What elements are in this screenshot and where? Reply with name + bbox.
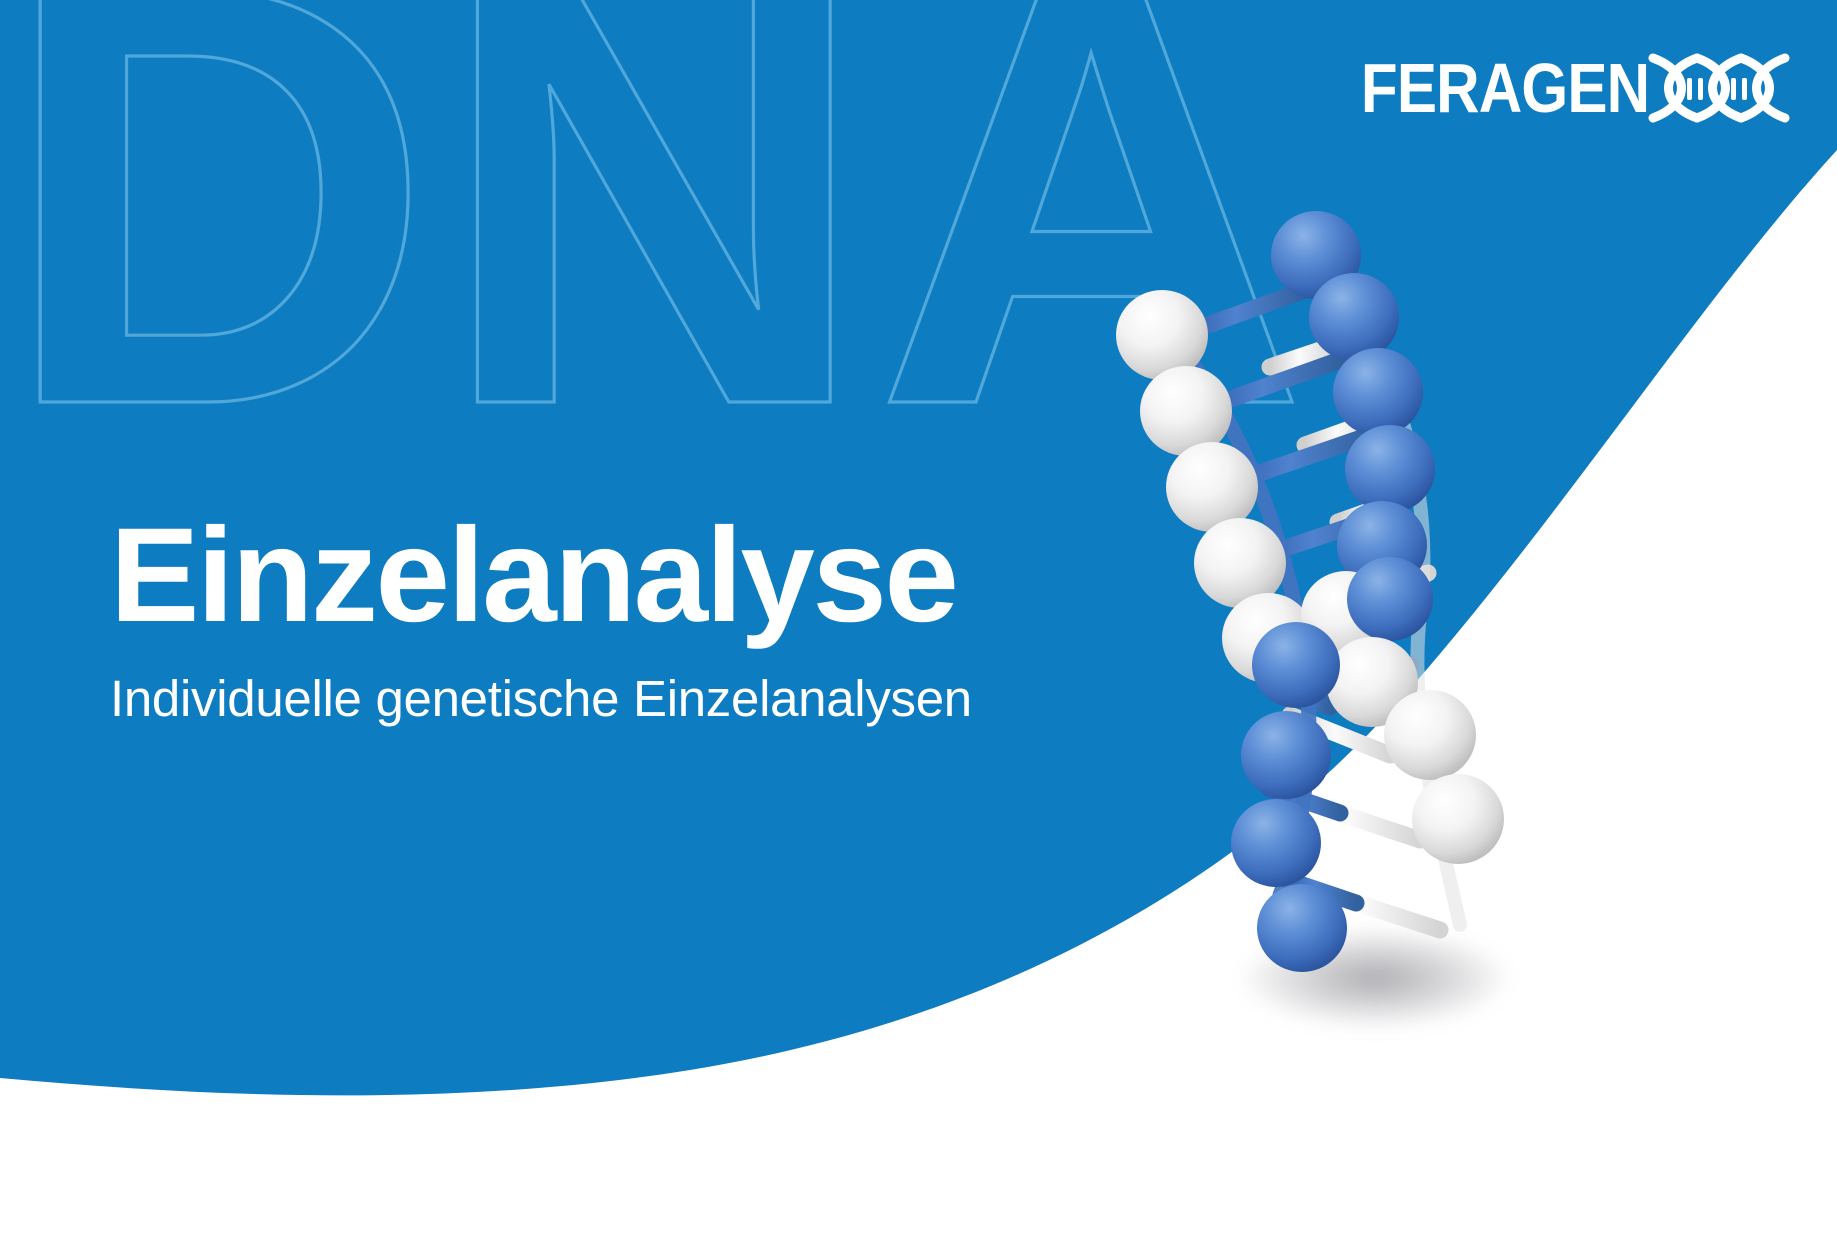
dna-double-helix-3d-model — [1090, 195, 1610, 975]
dna-helix-logo-icon — [1647, 52, 1797, 124]
brand-logo[interactable]: FERAGEN — [1314, 52, 1797, 124]
dna-sphere-group — [1116, 211, 1504, 972]
dna-einzelanalyse-banner: DNA FERAGEN Einzelanalyse Indiv — [0, 0, 1837, 1252]
headline-block: Einzelanalyse Individuelle genetische Ei… — [110, 508, 1170, 727]
page-subtitle: Individuelle genetische Einzelanalysen — [110, 671, 1170, 727]
brand-wordmark: FERAGEN — [1361, 53, 1649, 123]
page-title: Einzelanalyse — [110, 508, 1170, 645]
